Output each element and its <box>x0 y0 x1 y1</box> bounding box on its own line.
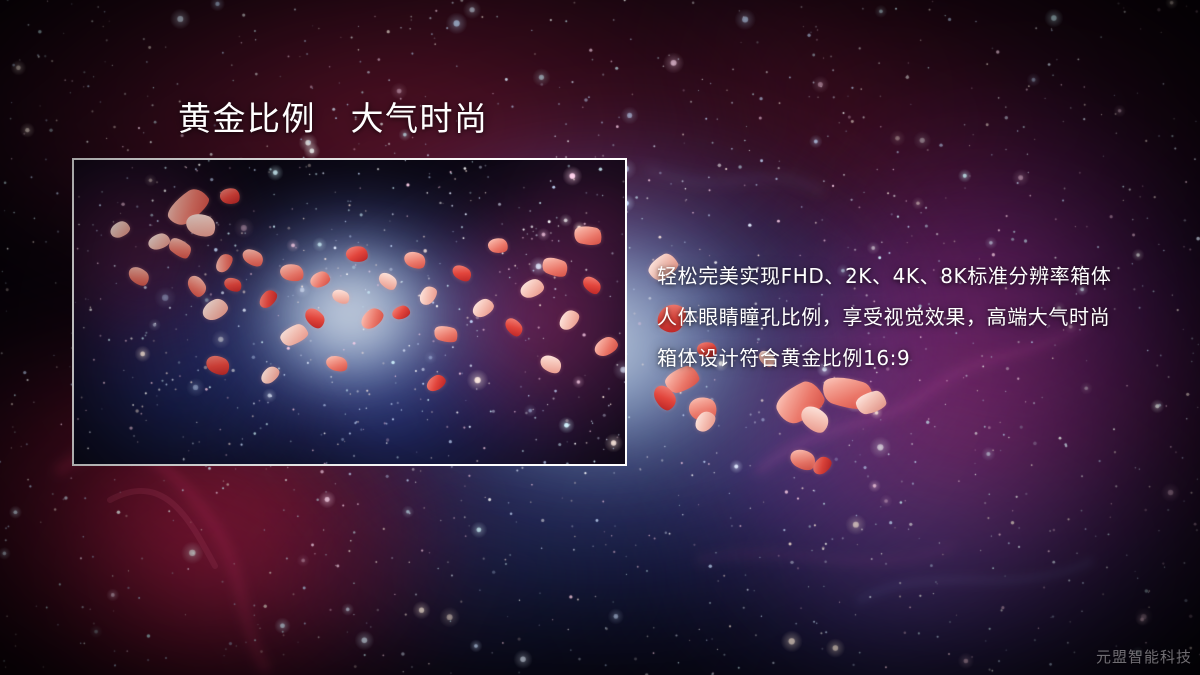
presentation-slide: 黄金比例 大气时尚 轻松完美实现FHD、2K、4K、8K标准分辨率箱体 人体眼睛… <box>0 0 1200 675</box>
galaxy-image-frame <box>72 158 627 466</box>
page-title: 黄金比例 大气时尚 <box>178 101 489 137</box>
body-line-2: 人体眼睛瞳孔比例，享受视觉效果，高端大气时尚 <box>657 297 1157 338</box>
galaxy-image <box>74 160 625 464</box>
watermark: 元盟智能科技 <box>1096 646 1192 667</box>
body-text-block: 轻松完美实现FHD、2K、4K、8K标准分辨率箱体 人体眼睛瞳孔比例，享受视觉效… <box>657 256 1157 379</box>
body-line-3: 箱体设计符合黄金比例16:9 <box>657 338 1157 379</box>
frame-starfield <box>74 160 625 464</box>
body-line-1: 轻松完美实现FHD、2K、4K、8K标准分辨率箱体 <box>657 256 1157 297</box>
